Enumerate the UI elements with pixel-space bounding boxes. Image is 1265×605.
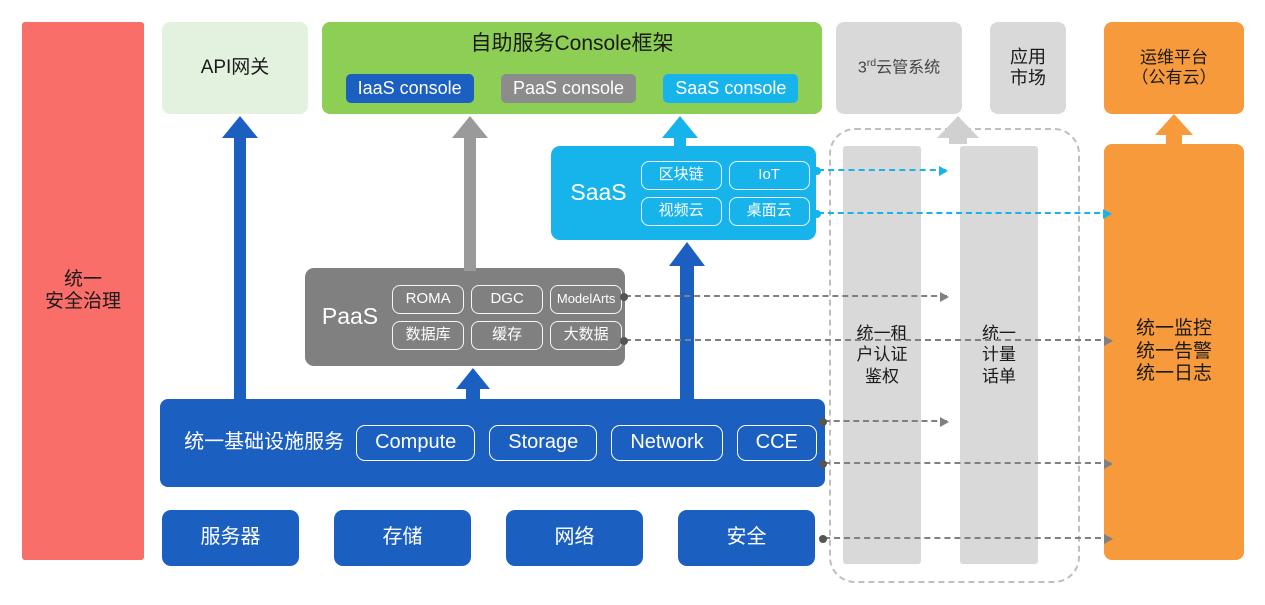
paas-service-cache[interactable]: 缓存 — [471, 321, 543, 350]
arrow-ops-panel-to-ops-platform — [1154, 114, 1194, 146]
column-unified-metering-billing: 统一计量话单 — [960, 146, 1038, 564]
layer-paas: PaaS ROMA DGC ModelArts 数据库 缓存 大数据 — [305, 268, 625, 366]
paas-service-roma[interactable]: ROMA — [392, 285, 464, 314]
saas-service-iot[interactable]: IoT — [729, 161, 810, 190]
box-api-gateway: API网关 — [162, 22, 308, 114]
hardware-storage-label: 存储 — [383, 526, 423, 550]
console-framework-title: 自助服务Console框架 — [322, 32, 822, 57]
hardware-security-label: 安全 — [727, 526, 767, 550]
dashed-infra-to-ops-panel — [824, 462, 1111, 464]
panel-unified-monitoring: 统一监控统一告警统一日志 — [1104, 144, 1244, 560]
application-market-label: 应用市场 — [1010, 47, 1046, 89]
dashed-hardware-to-ops-panel — [824, 537, 1111, 539]
infra-service-compute[interactable]: Compute — [356, 425, 475, 461]
console-framework-panel: 自助服务Console框架 IaaS console PaaS console … — [322, 22, 822, 114]
ops-panel-label: 统一监控统一告警统一日志 — [1136, 318, 1212, 385]
paas-layer-label: PaaS — [322, 303, 378, 330]
layer-saas: SaaS 区块链 IoT 视频云 桌面云 — [551, 146, 816, 240]
arrow-infra-to-api-gateway — [222, 116, 258, 401]
pill-paas-console[interactable]: PaaS console — [501, 74, 636, 103]
box-hardware-storage[interactable]: 存储 — [334, 510, 471, 566]
layer-unified-infrastructure: 统一基础设施服务 Compute Storage Network CCE — [160, 399, 825, 487]
saas-service-video-cloud[interactable]: 视频云 — [641, 197, 722, 226]
panel-security-label: 统一安全治理 — [45, 269, 121, 314]
pill-iaas-console[interactable]: IaaS console — [346, 74, 474, 103]
dashed-saas-to-auth — [818, 169, 946, 171]
ops-platform-label: 运维平台（公有云） — [1132, 48, 1217, 88]
paas-service-database[interactable]: 数据库 — [392, 321, 464, 350]
column-unified-tenant-auth: 统一租户认证鉴权 — [843, 146, 921, 564]
box-ops-platform-public-cloud: 运维平台（公有云） — [1104, 22, 1244, 114]
dashed-paas-to-ops-panel — [625, 339, 1111, 341]
hardware-network-label: 网络 — [555, 526, 595, 550]
box-hardware-security[interactable]: 安全 — [678, 510, 815, 566]
arrow-paas-to-console — [452, 116, 488, 271]
architecture-diagram: 统一安全治理 API网关 自助服务Console框架 IaaS console … — [0, 0, 1265, 605]
dashed-infra-to-auth — [824, 420, 947, 422]
saas-service-blockchain[interactable]: 区块链 — [641, 161, 722, 190]
saas-service-grid: 区块链 IoT 视频云 桌面云 — [641, 161, 811, 226]
auth-column-label: 统一租户认证鉴权 — [857, 323, 908, 387]
third-party-label: 3rd云管系统 — [858, 57, 940, 78]
arrow-saas-to-saas-console — [662, 116, 698, 150]
paas-service-bigdata[interactable]: 大数据 — [550, 321, 622, 350]
dashed-paas-to-auth — [625, 295, 947, 297]
paas-service-grid: ROMA DGC ModelArts 数据库 缓存 大数据 — [392, 285, 622, 350]
infra-service-storage[interactable]: Storage — [489, 425, 597, 461]
panel-unified-security-governance: 统一安全治理 — [22, 22, 144, 560]
paas-service-dgc[interactable]: DGC — [471, 285, 543, 314]
console-pill-group: IaaS console PaaS console SaaS console — [322, 74, 822, 103]
box-hardware-server[interactable]: 服务器 — [162, 510, 299, 566]
pill-saas-console[interactable]: SaaS console — [663, 74, 798, 103]
arrow-infra-to-paas — [455, 368, 491, 402]
dashed-saas-to-ops-panel — [818, 212, 1110, 214]
paas-service-modelarts[interactable]: ModelArts — [550, 285, 622, 314]
saas-service-desktop-cloud[interactable]: 桌面云 — [729, 197, 810, 226]
saas-layer-label: SaaS — [570, 179, 626, 206]
hardware-server-label: 服务器 — [201, 526, 261, 550]
infrastructure-service-group: Compute Storage Network CCE — [356, 425, 817, 461]
infrastructure-label: 统一基础设施服务 — [184, 431, 344, 455]
arrow-shared-to-third-party — [936, 116, 980, 142]
arrow-infra-to-saas — [669, 242, 705, 402]
billing-column-label: 统一计量话单 — [982, 323, 1016, 387]
box-third-party-cloud-management: 3rd云管系统 — [836, 22, 962, 114]
infra-service-cce[interactable]: CCE — [737, 425, 817, 461]
api-gateway-label: API网关 — [201, 57, 270, 79]
box-application-market: 应用市场 — [990, 22, 1066, 114]
box-hardware-network[interactable]: 网络 — [506, 510, 643, 566]
infra-service-network[interactable]: Network — [611, 425, 722, 461]
